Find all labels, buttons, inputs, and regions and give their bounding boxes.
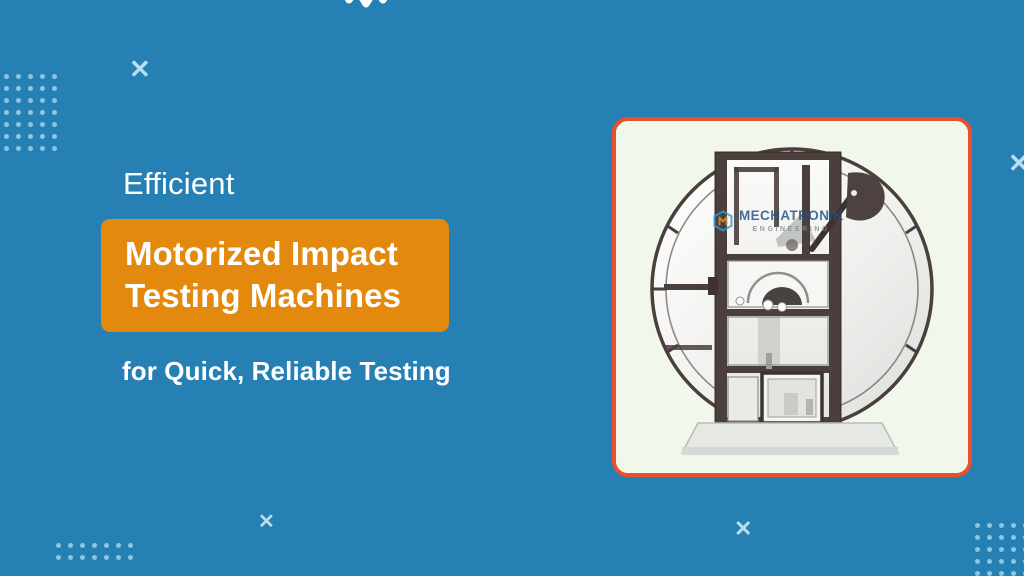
dot [16, 98, 21, 103]
dot [52, 86, 57, 91]
dot [40, 110, 45, 115]
x-mark-icon: ✕ [734, 518, 752, 540]
dot [987, 547, 992, 552]
dot [16, 74, 21, 79]
dot [987, 571, 992, 576]
dot [28, 86, 33, 91]
dot [987, 523, 992, 528]
dot [40, 98, 45, 103]
dot [999, 535, 1004, 540]
dot [80, 543, 85, 548]
eyebrow-text: Efficient [123, 168, 571, 199]
dot [52, 110, 57, 115]
dot [92, 543, 97, 548]
dot [40, 74, 45, 79]
dot [40, 86, 45, 91]
dot-grid-bottom-right [975, 523, 1024, 576]
dot [999, 571, 1004, 576]
dot [4, 98, 9, 103]
dot [56, 543, 61, 548]
dot [975, 535, 980, 540]
dot [104, 555, 109, 560]
dot [52, 134, 57, 139]
x-mark-icon: ✕ [1008, 150, 1024, 176]
dot [52, 98, 57, 103]
dot [987, 559, 992, 564]
dot [975, 559, 980, 564]
dot [28, 122, 33, 127]
dot [4, 74, 9, 79]
dot [4, 122, 9, 127]
dot [116, 555, 121, 560]
dot-grid-top-left [4, 74, 57, 151]
dot [28, 74, 33, 79]
product-photo-impact-testing-machine [616, 121, 968, 473]
dot [28, 146, 33, 151]
dot [92, 555, 97, 560]
dot [975, 571, 980, 576]
dot [1011, 547, 1016, 552]
dot [56, 555, 61, 560]
x-mark-icon: ✕ [258, 512, 275, 532]
x-mark-icon: ✕ [129, 56, 151, 82]
dot [16, 86, 21, 91]
dot [1011, 535, 1016, 540]
dot [28, 110, 33, 115]
dot [4, 110, 9, 115]
dot [104, 543, 109, 548]
dot [28, 134, 33, 139]
dot [40, 134, 45, 139]
dot [80, 555, 85, 560]
dot [28, 98, 33, 103]
dot [68, 543, 73, 548]
dot [975, 523, 980, 528]
dot [16, 146, 21, 151]
dot [128, 543, 133, 548]
dot [999, 559, 1004, 564]
zigzag-w-logo-icon [335, 0, 397, 18]
dot [999, 523, 1004, 528]
dot [52, 146, 57, 151]
subhead-text: for Quick, Reliable Testing [122, 358, 571, 384]
headline-line-1: Motorized Impact [125, 233, 401, 275]
dot [52, 122, 57, 127]
dot [16, 122, 21, 127]
dot [1011, 559, 1016, 564]
dot [975, 547, 980, 552]
dot [68, 555, 73, 560]
dot [1011, 523, 1016, 528]
dot-grid-bottom-left [56, 543, 133, 560]
headline-block: Efficient Motorized Impact Testing Machi… [101, 168, 571, 384]
dot [16, 110, 21, 115]
dot [40, 146, 45, 151]
dot [4, 134, 9, 139]
headline-highlight-box: Motorized Impact Testing Machines [101, 219, 449, 332]
dot [987, 535, 992, 540]
dot [16, 134, 21, 139]
dot [4, 146, 9, 151]
dot [52, 74, 57, 79]
dot [116, 543, 121, 548]
dot [4, 86, 9, 91]
dot [40, 122, 45, 127]
dot [128, 555, 133, 560]
dot [999, 547, 1004, 552]
headline-line-2: Testing Machines [125, 275, 401, 317]
product-image-card: MECHATRONIK ENGINEERING [612, 117, 972, 477]
dot [1011, 571, 1016, 576]
promo-banner: ✕ ✕ ✕ ✕ Efficient Motorized Impact Testi… [0, 0, 1024, 576]
